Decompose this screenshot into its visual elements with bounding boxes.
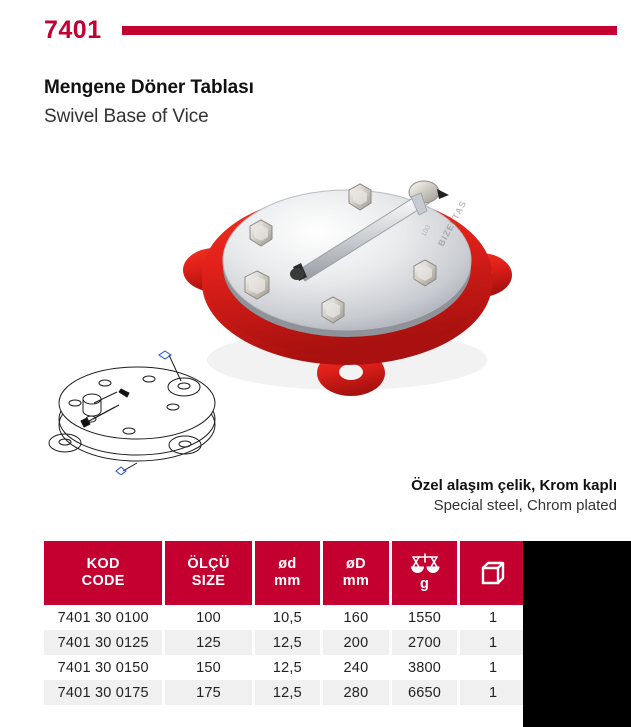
balance-scale-icon	[410, 553, 440, 575]
cell-code: 7401 30 0100	[44, 605, 162, 630]
cell-pack: 1	[460, 680, 526, 705]
column-header-code: KOD CODE	[44, 541, 162, 605]
cell-size: 150	[165, 655, 251, 680]
column-header-od-max-symbol: øD	[346, 556, 366, 573]
column-header-size-tr: ÖLÇÜ	[187, 556, 229, 573]
column-header-weight: g	[392, 541, 458, 605]
column-header-od-min-symbol: ød	[278, 556, 296, 573]
cell-size: 100	[165, 605, 251, 630]
cell-weight: 1550	[392, 605, 458, 630]
cell-size: 125	[165, 630, 251, 655]
cell-od-max: 160	[323, 605, 389, 630]
material-note-tr: Özel alaşım çelik, Krom kaplı	[217, 476, 617, 496]
cell-pack: 1	[460, 655, 526, 680]
column-header-pack	[460, 541, 526, 605]
cell-weight: 6650	[392, 680, 458, 705]
column-header-od-min: ød mm	[255, 541, 321, 605]
product-title-tr: Mengene Döner Tablası	[44, 78, 254, 99]
cell-od-max: 280	[323, 680, 389, 705]
cell-od-min: 12,5	[255, 630, 321, 655]
cell-pack: 1	[460, 605, 526, 630]
page-title: 7401	[44, 18, 102, 43]
column-header-size-en: SIZE	[192, 573, 225, 590]
column-header-od-max-unit: mm	[343, 573, 369, 590]
column-header-od-max: øD mm	[323, 541, 389, 605]
header-rule	[122, 26, 617, 35]
column-header-size: ÖLÇÜ SIZE	[165, 541, 251, 605]
material-note: Özel alaşım çelik, Krom kaplı Special st…	[217, 476, 617, 517]
box-icon	[479, 559, 507, 587]
cell-od-max: 200	[323, 630, 389, 655]
column-header-code-tr: KOD	[87, 556, 120, 573]
cell-od-min: 12,5	[255, 655, 321, 680]
cell-code: 7401 30 0150	[44, 655, 162, 680]
cell-code: 7401 30 0175	[44, 680, 162, 705]
cell-weight: 2700	[392, 630, 458, 655]
cell-od-max: 240	[323, 655, 389, 680]
column-header-weight-unit: g	[420, 576, 429, 593]
cell-code: 7401 30 0125	[44, 630, 162, 655]
dimension-callout-od-inner	[116, 467, 126, 475]
column-header-code-en: CODE	[82, 573, 125, 590]
column-header-od-min-unit: mm	[274, 573, 300, 590]
cell-weight: 3800	[392, 655, 458, 680]
catalog-page: 7401 Mengene Döner Tablası Swivel Base o…	[0, 0, 631, 727]
product-title-en: Swivel Base of Vice	[44, 107, 209, 128]
cell-pack: 1	[460, 630, 526, 655]
cell-od-min: 12,5	[255, 680, 321, 705]
cell-size: 175	[165, 680, 251, 705]
technical-drawing	[45, 345, 240, 475]
cell-od-min: 10,5	[255, 605, 321, 630]
material-note-en: Special steel, Chrom plated	[217, 496, 617, 516]
page-header: 7401	[0, 0, 631, 58]
chrome-plate	[223, 190, 471, 337]
black-redaction-block	[523, 541, 631, 727]
